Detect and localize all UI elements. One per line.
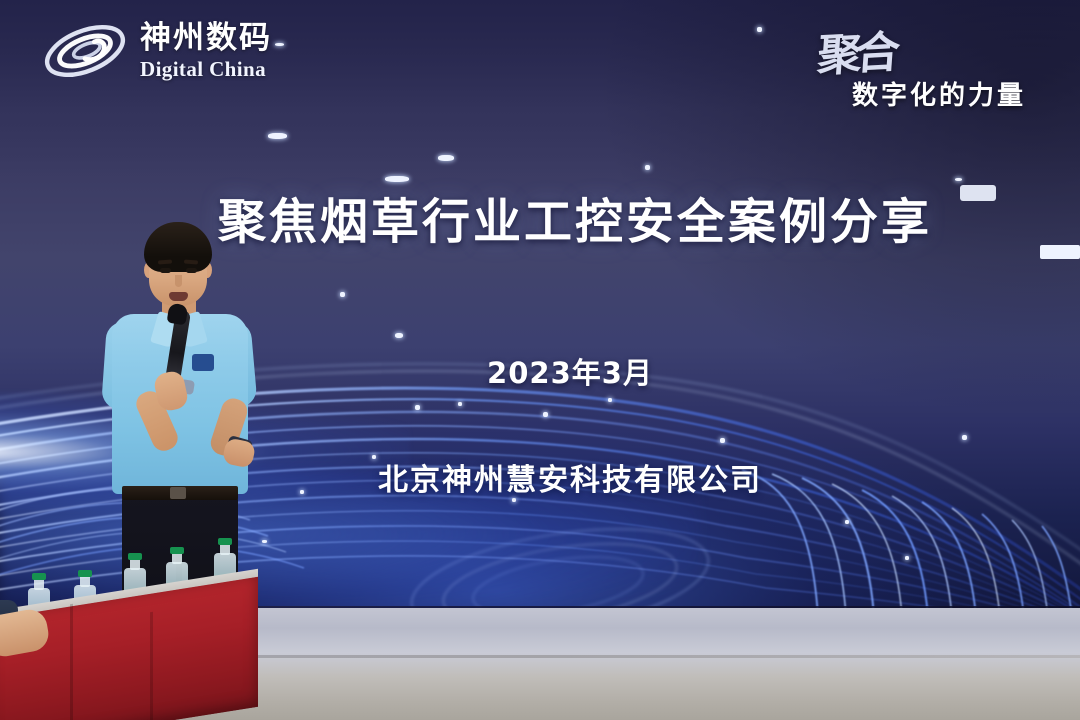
speaker-chest-logo: [192, 354, 214, 371]
particle: [905, 556, 909, 560]
particle: [438, 155, 454, 161]
digital-china-swoosh-icon: [42, 16, 128, 86]
particle: [720, 438, 725, 443]
particle: [757, 27, 762, 32]
brand-logo: 神州数码 Digital China: [42, 16, 272, 86]
particle: [845, 520, 849, 524]
stage-scene: 神州数码 Digital China 聚合 数字化的力量 聚焦烟草行业工控安全案…: [0, 0, 1080, 720]
particle: [268, 133, 287, 139]
speaker-figure: [96, 222, 281, 617]
particle: [955, 178, 962, 181]
brand-logo-chinese: 神州数码: [140, 23, 272, 54]
particle: [608, 398, 612, 402]
speaker-mouth: [169, 292, 188, 301]
particle: [275, 43, 284, 46]
particle: [395, 333, 403, 338]
table-cloth-fold: [70, 604, 73, 720]
speaker-nose: [175, 275, 182, 287]
speaker-hair: [144, 222, 212, 272]
particle: [543, 412, 548, 417]
speaker-eye-left: [160, 268, 171, 273]
event-logo: 聚合 数字化的力量: [794, 18, 1054, 118]
brand-logo-english: Digital China: [140, 59, 272, 80]
table-cloth-fold: [150, 612, 153, 720]
particle: [340, 292, 345, 297]
particle: [458, 402, 462, 406]
speaker-eye-right: [186, 268, 197, 273]
event-logo-calligraphy: 聚合: [816, 16, 897, 84]
particle: [962, 435, 967, 440]
event-logo-subtitle: 数字化的力量: [852, 75, 1026, 112]
particle: [645, 165, 650, 170]
speaker-belt-buckle: [170, 487, 186, 499]
particle: [415, 405, 420, 410]
